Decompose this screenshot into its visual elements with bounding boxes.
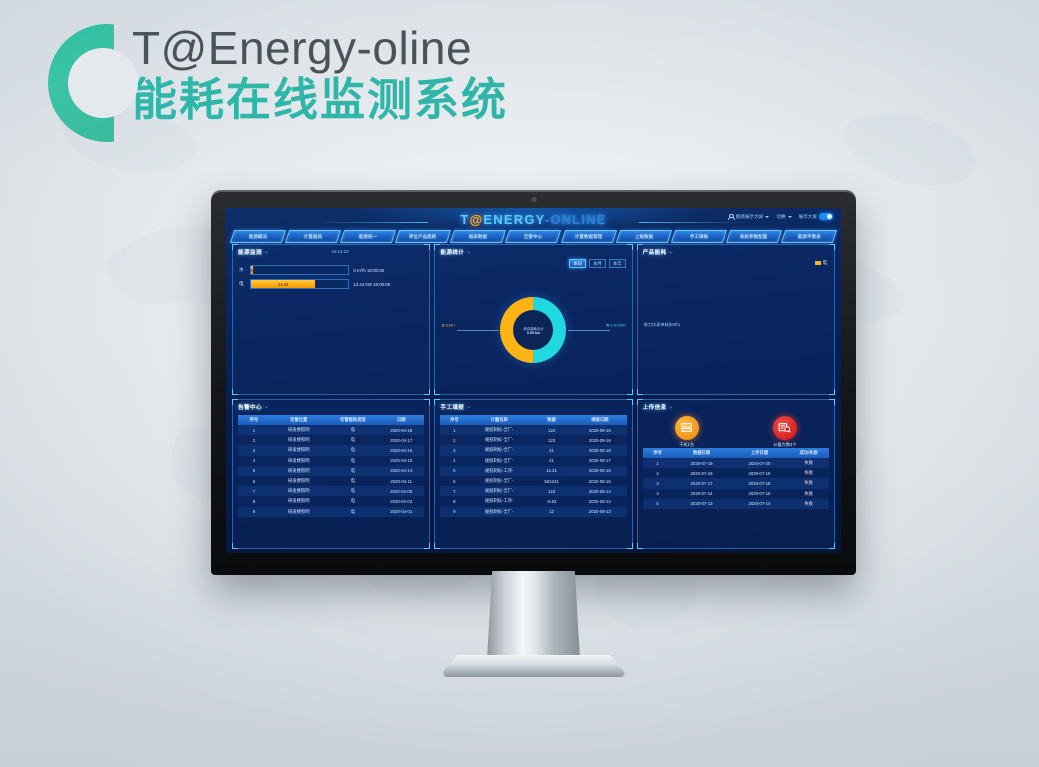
cell: 规抵制标-全厂- — [468, 488, 530, 494]
panel-title-energy-stats: 能源统计+ — [440, 248, 470, 256]
monitor-stand-base — [443, 655, 625, 677]
cell: 电 — [328, 458, 378, 464]
table-row[interactable]: 3研发楼照明电2020-04-16 — [238, 445, 424, 455]
cell: 研发楼照明 — [270, 498, 328, 504]
meter-label-electric: 电 — [239, 281, 246, 287]
table-row[interactable]: 6规抵制标-全厂-5612412020-08-15 — [440, 476, 626, 486]
cell: 2020-04-03 — [378, 499, 424, 504]
table-row[interactable]: 7研发楼照明电2020-04-05 — [238, 486, 424, 496]
nav-item-6[interactable]: 计量数据管理 — [560, 230, 616, 243]
panel-product-energy: 产品能耗+ 电 电力仪表单耗(kWh) — [637, 244, 835, 395]
data-search-icon — [773, 416, 797, 440]
tab-year[interactable]: 本年 — [609, 259, 626, 268]
manual-col-2: 数据 — [530, 417, 573, 423]
cell: 5 — [643, 501, 673, 506]
panel-energy-stats: 能源统计+ 本日 本月 本年 水 0.00 t 电 0.00 kWh 综合 — [434, 244, 632, 395]
donut-label-water: 水 0.00 t — [441, 324, 455, 329]
manual-col-3: 填报日期 — [573, 417, 627, 423]
panel-title-alarm-center: 告警中心+ — [238, 403, 268, 411]
cell: 电 — [328, 498, 378, 504]
app-wordmark: T@ENERGY-ONLINE — [460, 212, 606, 227]
table-row[interactable]: 4规抵制标-全厂-212020-08-17 — [440, 456, 626, 466]
upload-col-3: 成功/失败 — [788, 450, 829, 456]
upload-badges: 干机1台 计量方数3个 — [638, 416, 834, 448]
panel-expand-icon-stats[interactable]: + — [467, 250, 470, 255]
cell: 561241 — [530, 479, 573, 484]
cell: 电 — [328, 447, 378, 453]
panel-title-energy-monitor: 能源监测+ — [238, 248, 268, 256]
cell: 规抵制标-全厂- — [468, 458, 530, 464]
cell: 研发楼照明 — [270, 427, 328, 433]
cell: 1 — [643, 461, 673, 466]
cell: 1 — [238, 428, 270, 433]
cell: 研发楼照明 — [270, 447, 328, 453]
cell: 7 — [238, 489, 270, 494]
nav-item-3[interactable]: 单位产品能耗 — [395, 230, 451, 243]
legend-label-electric: 电 — [823, 260, 827, 266]
cell: 规抵制标-全厂- — [468, 437, 530, 443]
nav-item-9[interactable]: 系统参数配置 — [726, 230, 782, 243]
product-axis-note: 电力仪表单耗(kWh) — [644, 322, 680, 328]
cell: 21 — [530, 448, 573, 453]
tab-day[interactable]: 本日 — [569, 259, 586, 268]
table-row[interactable]: 5规抵制标-工序-12.212020-08-15 — [440, 466, 626, 476]
panel-alarm-center: 告警中心+ 序号 告警位置 告警能耗类型 日期 1研发楼照明电2020-04-1… — [232, 399, 430, 550]
cell: 研发楼照明 — [270, 509, 328, 515]
bigscreen-toggle-label: 展示大屏 — [799, 214, 817, 220]
badge-data-search[interactable]: 计量方数3个 — [773, 416, 797, 448]
cell: 电 — [328, 437, 378, 443]
cell: 规抵制标-全厂- — [468, 447, 530, 453]
brand-text-block: T@Energy-oline 能耗在线监测系统 — [132, 24, 508, 126]
cell: 2020-08-18 — [573, 438, 627, 443]
switch-label: 切换 — [776, 214, 785, 220]
panel-title-text-manual: 手工填报 — [440, 405, 464, 411]
cell: 2020-07-17 — [673, 481, 731, 486]
bigscreen-toggle-group[interactable]: 展示大屏 — [799, 213, 833, 220]
cell: 4 — [238, 458, 270, 463]
table-row[interactable]: 42020-07-142020-07-15失败 — [643, 489, 829, 499]
cell: 7 — [440, 489, 468, 494]
alarm-table: 序号 告警位置 告警能耗类型 日期 1研发楼照明电2020-04-18 2研发楼… — [238, 415, 424, 547]
cell: 8 — [440, 499, 468, 504]
brand-title: T@Energy-oline — [132, 24, 508, 72]
status-badge: 失败 — [788, 480, 829, 486]
nav-label-4: 报表数据 — [469, 234, 487, 240]
nav-item-5[interactable]: 告警中心 — [505, 230, 561, 243]
donut-center: 综合能耗合计 0.00 tce — [513, 310, 553, 350]
cell: 2020-07-20 — [730, 461, 788, 466]
cell: 3 — [643, 481, 673, 486]
wordmark-energy: ENERGY — [483, 212, 544, 227]
dashboard-grid: 能源监测+ 16:14:23 水 0 0 m³/h 18:00:00 电 13.… — [232, 244, 835, 549]
cell: 12.21 — [530, 468, 573, 473]
panel-title-upload-info: 上传信息+ — [643, 403, 673, 411]
cell: 研发楼照明 — [270, 458, 328, 464]
cell: 2020-07-18 — [730, 481, 788, 486]
main-nav: 能源概况 计量器具 能源统一 单位产品能耗 报表数据 告警中心 计量数据管理 上… — [232, 230, 835, 243]
donut-label-electric: 电 0.00 kWh — [606, 324, 626, 329]
alarm-col-1: 告警位置 — [270, 417, 328, 423]
cell: 2020-07-18 — [673, 471, 731, 476]
status-badge: 失败 — [788, 470, 829, 476]
energy-donut-chart: 水 0.00 t 电 0.00 kWh 综合能耗合计 0.00 tce — [435, 273, 631, 388]
legend-swatch-electric — [815, 261, 821, 265]
webcam-icon — [531, 197, 536, 202]
cell: 1 — [440, 428, 468, 433]
manual-col-1: 计量名称 — [468, 417, 530, 423]
monitor: T@ENERGY-ONLINE 能耗展示大屏 切换 展示大屏 — [211, 190, 856, 575]
table-row[interactable]: 1研发楼照明电2020-04-18 — [238, 425, 424, 435]
table-row[interactable]: 3规抵制标-全厂-212020-08-18 — [440, 445, 626, 455]
table-row[interactable]: 8研发楼照明电2020-04-03 — [238, 496, 424, 506]
cell: -0.53 — [530, 499, 573, 504]
cell: 2020-07-14 — [730, 501, 788, 506]
cell: 2020-04-05 — [378, 489, 424, 494]
table-row[interactable]: 1规抵制标-全厂-1232020-08-19 — [440, 425, 626, 435]
upload-table-header: 序号 数据日期 上传日期 成功/失败 — [643, 448, 829, 459]
cell: 2020-07-15 — [730, 491, 788, 496]
cell: 2020-08-18 — [573, 448, 627, 453]
table-row[interactable]: 32020-07-172020-07-18失败 — [643, 478, 829, 488]
cell: 2020-04-17 — [378, 438, 424, 443]
cell: 2020-07-19 — [673, 461, 731, 466]
table-row[interactable]: 22020-07-182020-07-19失败 — [643, 468, 829, 478]
panel-expand-icon-manual[interactable]: + — [467, 405, 470, 410]
wordmark-at-icon: @ — [470, 212, 484, 227]
nav-label-6: 计量数据管理 — [575, 234, 603, 240]
cell: 12 — [530, 509, 573, 514]
panel-manual-entry: 手工填报+ 序号 计量名称 数据 填报日期 1规抵制标-全厂-1232020-0… — [434, 399, 632, 550]
nav-item-4[interactable]: 报表数据 — [450, 230, 506, 243]
cell: 电 — [328, 478, 378, 484]
nav-label-9: 系统参数配置 — [740, 234, 768, 240]
nav-item-10[interactable]: 能源平衡表 — [781, 230, 837, 243]
panel-upload-info: 上传信息+ 干机1台 — [637, 399, 835, 550]
cell: 2020-04-14 — [378, 468, 424, 473]
user-bar: 能耗展示大屏 切换 展示大屏 — [728, 213, 833, 220]
table-row[interactable]: 5研发楼照明电2020-04-14 — [238, 466, 424, 476]
cell: 6 — [440, 479, 468, 484]
cell: 2020-08-14 — [573, 499, 627, 504]
cell: 2020-04-16 — [378, 448, 424, 453]
cell: 9 — [238, 509, 270, 514]
meter-label-water: 水 — [239, 267, 246, 273]
monitor-screen: T@ENERGY-ONLINE 能耗展示大屏 切换 展示大屏 — [226, 208, 841, 553]
panel-energy-monitor: 能源监测+ 16:14:23 水 0 0 m³/h 18:00:00 电 13.… — [232, 244, 430, 395]
alarm-col-3: 日期 — [378, 417, 424, 423]
alarm-col-0: 序号 — [238, 417, 270, 423]
cell: 电 — [328, 509, 378, 515]
cell: 123 — [530, 428, 573, 433]
panel-title-text-stats: 能源统计 — [440, 250, 464, 256]
donut-center-label: 综合能耗合计 — [523, 326, 543, 331]
meter-bar-water: 0 — [250, 265, 349, 275]
cell: 3 — [238, 448, 270, 453]
meter-value-water: 0 m³/h 18:00:00 — [353, 268, 423, 273]
cell: 2020-04-18 — [378, 428, 424, 433]
nav-label-3: 单位产品能耗 — [410, 234, 438, 240]
cell: 2 — [440, 438, 468, 443]
dashboard: T@ENERGY-ONLINE 能耗展示大屏 切换 展示大屏 — [226, 208, 841, 553]
cell: 2020-04-01 — [378, 509, 424, 514]
cell: 123 — [530, 489, 573, 494]
manual-table-header: 序号 计量名称 数据 填报日期 — [440, 415, 626, 426]
cell: 规抵制标-工序- — [468, 498, 530, 504]
upload-table: 序号 数据日期 上传日期 成功/失败 12020-07-192020-07-20… — [643, 448, 829, 547]
cell: 2020-08-17 — [573, 458, 627, 463]
cell: 研发楼照明 — [270, 468, 328, 474]
nav-label-10: 能源平衡表 — [798, 234, 821, 240]
cell: 规抵制标-工序- — [468, 468, 530, 474]
cell: 2020-04-11 — [378, 479, 424, 484]
panel-expand-icon-product[interactable]: + — [670, 250, 673, 255]
manual-col-0: 序号 — [440, 417, 468, 423]
meter-bar-text-water: 0 — [251, 268, 253, 273]
nav-label-0: 能源概况 — [249, 234, 267, 240]
cell: 2 — [643, 471, 673, 476]
c-ring-logo-icon — [48, 24, 118, 146]
nav-item-0[interactable]: 能源概况 — [230, 230, 286, 243]
panel-expand-icon-alarm[interactable]: + — [265, 405, 268, 410]
cell: 8 — [238, 499, 270, 504]
cell: 电 — [328, 468, 378, 474]
cell: 规抵制标-全厂- — [468, 427, 530, 433]
nav-label-5: 告警中心 — [524, 234, 542, 240]
cell: 规抵制标-全厂- — [468, 509, 530, 515]
upload-col-1: 数据日期 — [673, 450, 731, 456]
nav-item-1[interactable]: 计量器具 — [285, 230, 341, 243]
table-row[interactable]: 9研发楼照明电2020-04-01 — [238, 507, 424, 517]
cell: 3 — [440, 448, 468, 453]
cell: 研发楼照明 — [270, 488, 328, 494]
table-row[interactable]: 9规抵制标-全厂-122020-08-13 — [440, 507, 626, 517]
nav-item-7[interactable]: 上报数据 — [616, 230, 672, 243]
cell: 规抵制标-全厂- — [468, 478, 530, 484]
cell: 2020-04-15 — [378, 458, 424, 463]
monitor-stand-neck — [487, 571, 581, 667]
donut-center-value: 0.00 tce — [527, 331, 540, 335]
chevron-down-icon — [765, 216, 769, 218]
nav-label-1: 计量器具 — [304, 234, 322, 240]
badge-server[interactable]: 干机1台 — [675, 416, 699, 448]
alarm-col-2: 告警能耗类型 — [328, 417, 378, 423]
status-badge: 失败 — [788, 491, 829, 497]
bigscreen-toggle[interactable] — [819, 213, 833, 220]
user-menu[interactable]: 能耗展示大屏 — [728, 214, 770, 220]
cell: 2020-08-14 — [573, 489, 627, 494]
panel-title-text-product: 产品能耗 — [643, 250, 667, 256]
table-row[interactable]: 6研发楼照明电2020-04-11 — [238, 476, 424, 486]
manual-table: 序号 计量名称 数据 填报日期 1规抵制标-全厂-1232020-08-19 2… — [440, 415, 626, 547]
cell: 2020-08-19 — [573, 428, 627, 433]
meter-row-electric: 电 13.24 13.24 kW 18:00:00 — [239, 279, 423, 289]
table-row[interactable]: 52020-07-132020-07-14失败 — [643, 499, 829, 509]
monitor-timestamp: 16:14:23 — [331, 249, 349, 254]
nav-item-8[interactable]: 手工填报 — [671, 230, 727, 243]
donut-ring: 综合能耗合计 0.00 tce — [500, 297, 566, 363]
nav-label-2: 能源统一 — [359, 234, 377, 240]
meter-bar-electric: 13.24 — [250, 279, 349, 289]
panel-title-manual-entry: 手工填报+ — [440, 403, 470, 411]
upload-col-0: 序号 — [643, 450, 673, 456]
cell: 2020-08-15 — [573, 479, 627, 484]
nav-label-7: 上报数据 — [635, 234, 653, 240]
wordmark-online: ONLINE — [550, 212, 606, 227]
table-row[interactable]: 12020-07-192020-07-20失败 — [643, 458, 829, 468]
table-row[interactable]: 8规抵制标-工序--0.532020-08-14 — [440, 496, 626, 506]
cell: 9 — [440, 509, 468, 514]
cell: 6 — [238, 479, 270, 484]
cell: 2020-07-13 — [673, 501, 731, 506]
meter-bar-text-electric: 13.24 — [278, 282, 288, 287]
nav-item-2[interactable]: 能源统一 — [340, 230, 396, 243]
cell: 5 — [440, 468, 468, 473]
cell: 研发楼照明 — [270, 437, 328, 443]
status-badge: 失败 — [788, 501, 829, 507]
brand-header: T@Energy-oline 能耗在线监测系统 — [48, 24, 508, 146]
logo-wing-left — [318, 222, 428, 223]
cell: 5 — [238, 468, 270, 473]
wordmark-t: T — [460, 212, 469, 227]
cell: 4 — [643, 491, 673, 496]
alarm-table-header: 序号 告警位置 告警能耗类型 日期 — [238, 415, 424, 426]
cell: 21 — [530, 458, 573, 463]
meter-row-water: 水 0 0 m³/h 18:00:00 — [239, 265, 423, 275]
switch-link[interactable]: 切换 — [776, 214, 791, 220]
cell: 电 — [328, 427, 378, 433]
panel-expand-icon-upload[interactable]: + — [670, 405, 673, 410]
cell: 4 — [440, 458, 468, 463]
cell: 2020-08-13 — [573, 509, 627, 514]
table-row[interactable]: 2规抵制标-全厂-1232020-08-18 — [440, 435, 626, 445]
panel-title-text-alarm: 告警中心 — [238, 405, 262, 411]
table-row[interactable]: 4研发楼照明电2020-04-15 — [238, 456, 424, 466]
product-legend: 电 — [815, 260, 827, 266]
stats-period-tabs: 本日 本月 本年 — [569, 259, 625, 268]
brand-subtitle: 能耗在线监测系统 — [132, 74, 508, 126]
meter-value-electric: 13.24 kW 18:00:00 — [353, 282, 423, 287]
panel-title-text-upload: 上传信息 — [643, 405, 667, 411]
table-row[interactable]: 7规抵制标-全厂-1232020-08-14 — [440, 486, 626, 496]
cell: 2020-08-15 — [573, 468, 627, 473]
panel-expand-icon-monitor[interactable]: + — [265, 250, 268, 255]
chevron-down-icon-2 — [788, 216, 792, 218]
user-label: 能耗展示大屏 — [736, 214, 764, 220]
panel-title-product-energy: 产品能耗+ — [643, 248, 673, 256]
cell: 123 — [530, 438, 573, 443]
tab-month[interactable]: 本月 — [589, 259, 606, 268]
logo-wing-right — [639, 222, 749, 223]
upload-col-2: 上传日期 — [730, 450, 788, 456]
cell: 2020-07-19 — [730, 471, 788, 476]
cell: 电 — [328, 488, 378, 494]
cell: 2020-07-14 — [673, 491, 731, 496]
server-icon — [675, 416, 699, 440]
nav-label-8: 手工填报 — [690, 234, 708, 240]
status-badge: 失败 — [788, 460, 829, 466]
cell: 研发楼照明 — [270, 478, 328, 484]
panel-title-text-monitor: 能源监测 — [238, 250, 262, 256]
table-row[interactable]: 2研发楼照明电2020-04-17 — [238, 435, 424, 445]
cell: 2 — [238, 438, 270, 443]
user-icon — [728, 214, 734, 220]
